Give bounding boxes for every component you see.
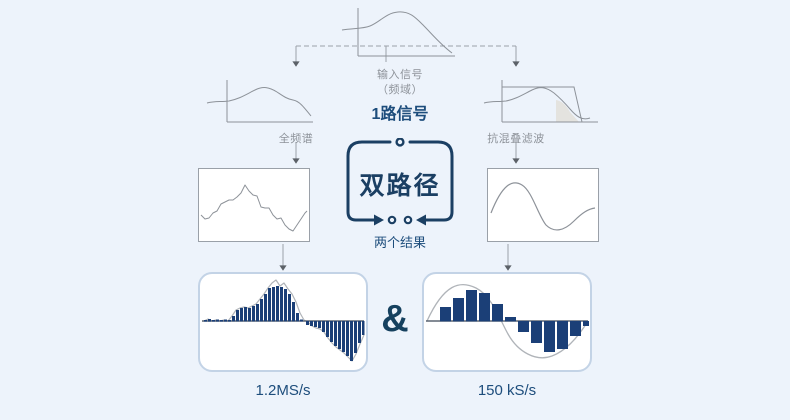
badge-dot-2-icon [405,217,411,223]
source-signal-chart [340,6,460,64]
source-caption-line1: 输入信号 [336,66,464,82]
conjunction-ampersand: & [372,300,418,338]
center-badge-subtitle: 两个结果 [336,232,464,251]
diagram-canvas: 输入信号 （频域） 1路信号 全频谱 抗混叠滤波 [0,0,790,420]
badge-top-dot-icon [397,139,404,146]
source-caption-line2: （频域） [336,81,464,97]
high-rate-bar-chart [200,274,366,370]
badge-arrow-right-icon [374,215,384,226]
low-rate-bar-chart [424,274,590,370]
center-badge-title: 双路径 [340,166,460,202]
source-subtitle: 1路信号 [336,100,464,124]
result-card-left [198,272,368,372]
result-rate-right: 150 kS/s [422,382,592,399]
right-filter-chart [482,78,602,130]
right-branch-caption: 抗混叠滤波 [452,130,580,146]
smooth-sine-trace [488,169,598,241]
result-rate-left: 1.2MS/s [198,382,368,399]
badge-dot-1-icon [389,217,395,223]
left-spectrum-chart [205,78,315,130]
result-card-right [422,272,592,372]
right-mid-chart-box [487,168,599,242]
badge-arrow-left-icon [416,215,426,226]
noisy-spectrum-trace [199,169,309,241]
left-mid-chart-box [198,168,310,242]
